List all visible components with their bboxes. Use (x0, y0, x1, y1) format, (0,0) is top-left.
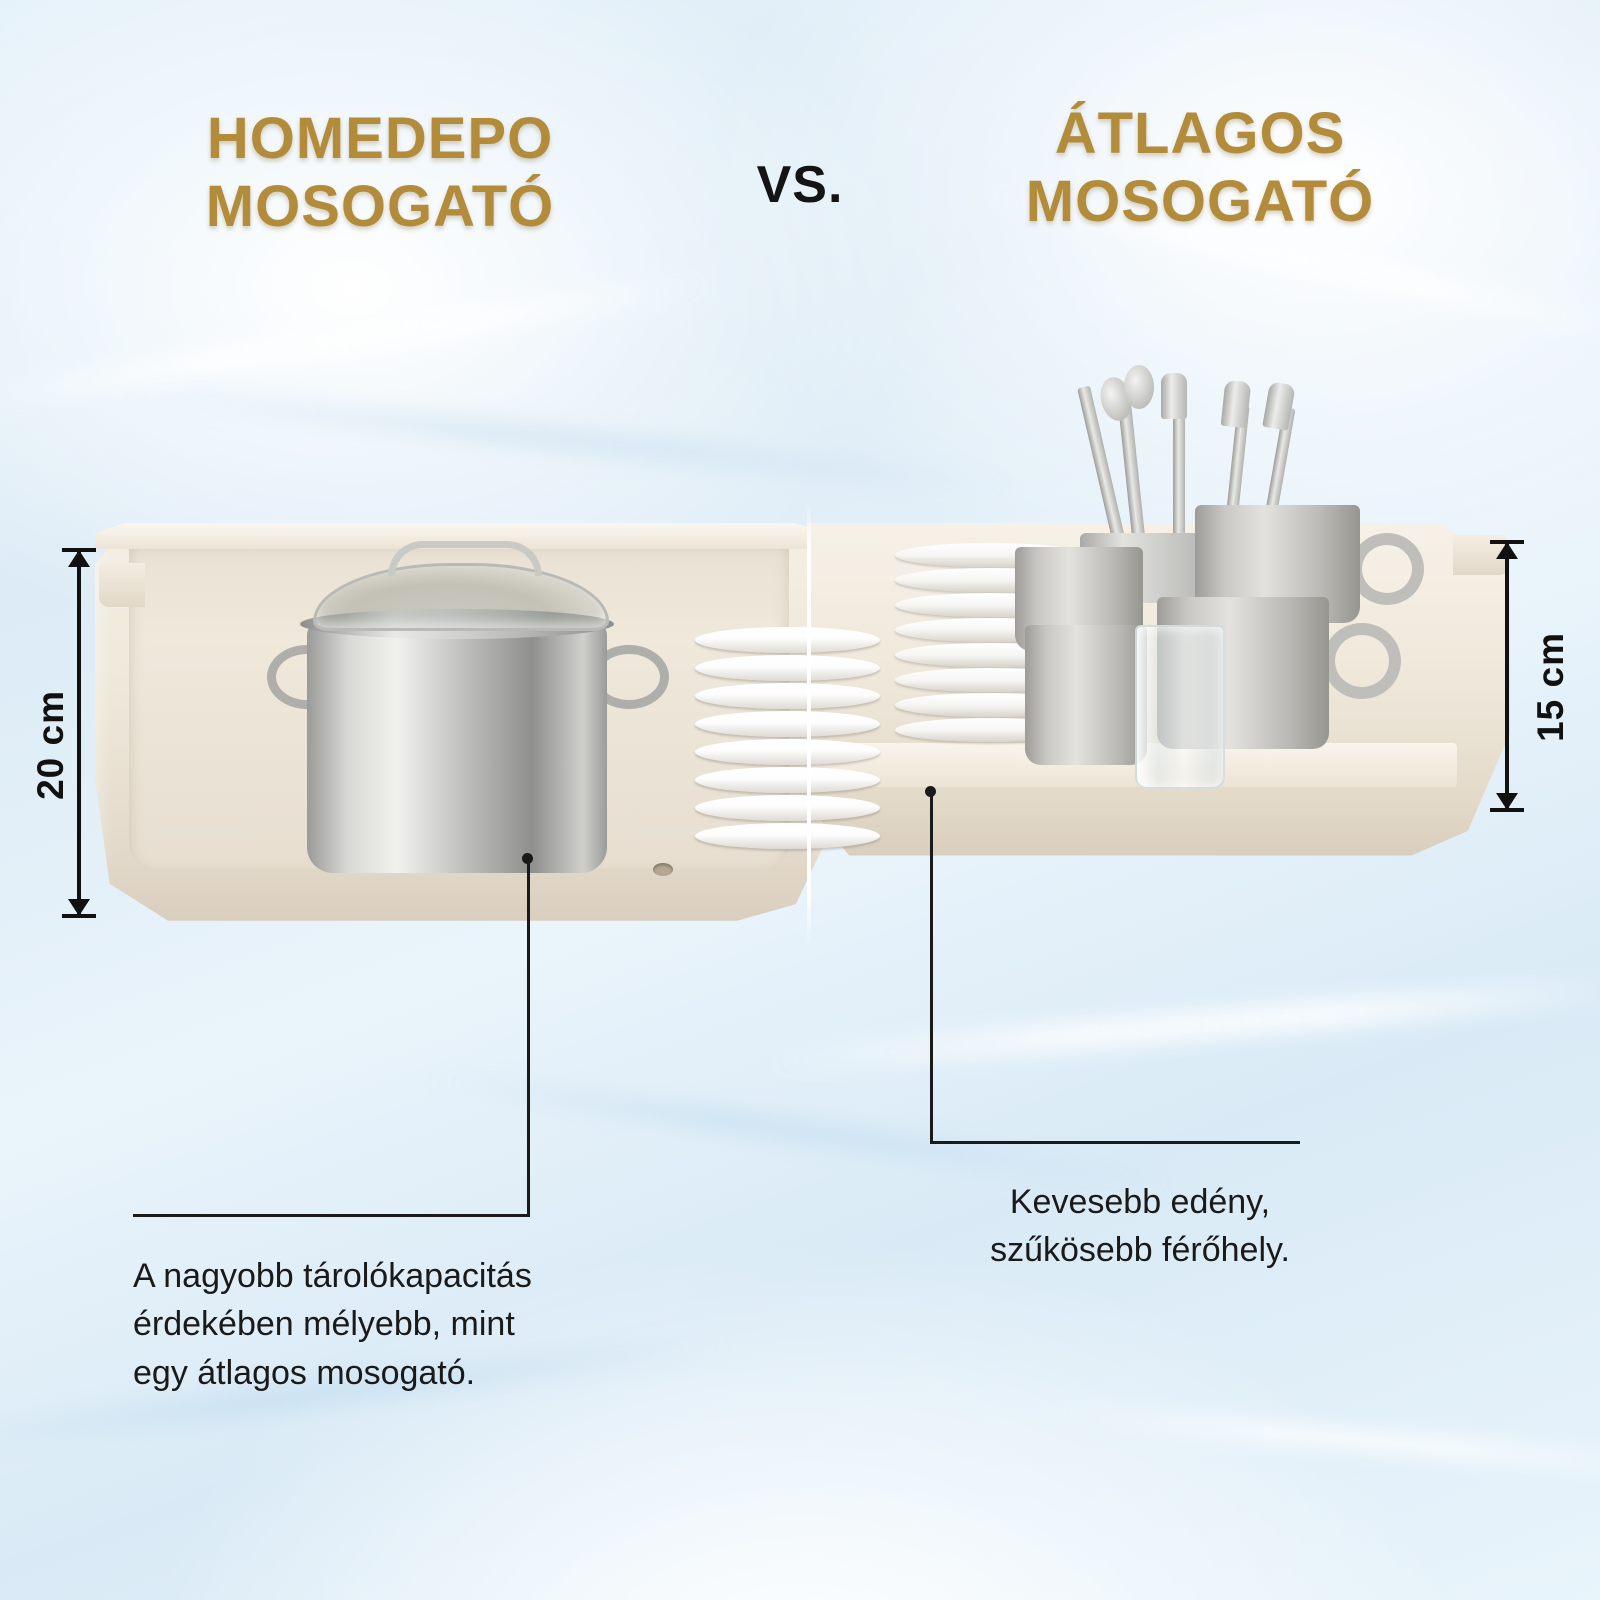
measure-line (77, 548, 81, 918)
plate (695, 739, 880, 765)
mug-handle-top-right (1350, 533, 1424, 605)
plate (695, 655, 880, 681)
right-callout-dot (925, 786, 936, 797)
comparison-divider (807, 505, 811, 945)
plate (695, 823, 880, 849)
right-callout-text: Kevesebb edény, szűkösebb férőhely. (930, 1178, 1350, 1275)
plate (695, 627, 880, 653)
measure-cap-bottom (1490, 808, 1524, 812)
measure-arrow-up (1496, 542, 1518, 559)
left-measurement-label: 20 cm (30, 690, 72, 800)
drain-hole (653, 863, 673, 876)
left-height-measurement (77, 548, 81, 918)
spoon-head-2 (1124, 365, 1154, 409)
measure-arrow-up (68, 550, 90, 567)
fork-icon (1161, 373, 1187, 419)
left-callout-leader-horizontal (133, 1214, 530, 1217)
right-callout-leader-horizontal (930, 1141, 1300, 1144)
mug-front-left (1025, 625, 1147, 765)
left-callout-text: A nagyobb tárolókapacitás érdekében mély… (133, 1252, 693, 1397)
plate (695, 767, 880, 793)
right-measurement-label: 15 cm (1530, 632, 1572, 742)
left-product-title: HOMEDEPO MOSOGATÓ (70, 105, 690, 241)
fork-icon-2 (1221, 380, 1252, 428)
left-plate-stack (695, 627, 880, 872)
right-height-measurement (1505, 540, 1509, 812)
right-callout-leader-vertical (930, 791, 933, 1143)
measure-line (1505, 540, 1509, 812)
product-comparison-photo (95, 505, 1510, 945)
drinking-glass (1135, 625, 1225, 789)
mug-handle-front-right (1323, 623, 1401, 699)
right-product-title: ÁTLAGOS MOSOGATÓ (880, 100, 1520, 236)
plate (695, 795, 880, 821)
pot-lid-handle (388, 541, 542, 576)
stainless-pot (307, 623, 607, 873)
left-callout-leader-vertical (527, 858, 530, 1216)
plate (695, 711, 880, 737)
comparison-infographic: HOMEDEPO MOSOGATÓ VS. ÁTLAGOS MOSOGATÓ (0, 0, 1600, 1600)
homedepo-sink-tab (99, 563, 145, 607)
left-callout-dot (522, 853, 533, 864)
vs-label: VS. (700, 155, 900, 215)
measure-cap-bottom (62, 914, 96, 918)
plate (695, 683, 880, 709)
